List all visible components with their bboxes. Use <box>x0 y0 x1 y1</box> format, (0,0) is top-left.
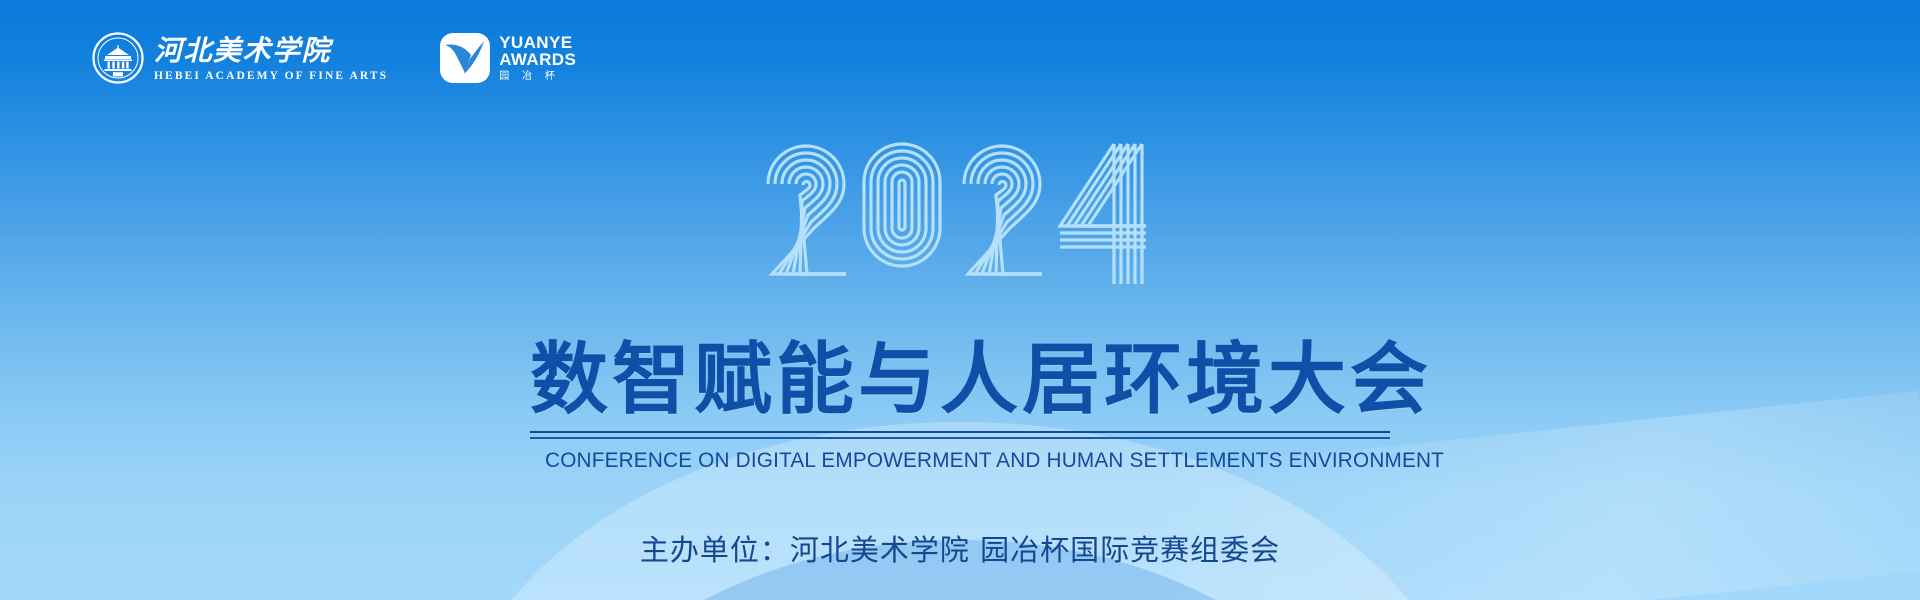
yuanye-wordmark: YUANYE AWARDS 园 冶 杯 <box>499 34 576 82</box>
conference-banner: 河北美术学院 HEBEI ACADEMY OF FINE ARTS YUANYE… <box>0 0 1920 600</box>
hebei-name-cn: 河北美术学院 <box>154 33 388 67</box>
year-2024-graphic <box>760 138 1160 290</box>
yuanye-line2: AWARDS <box>499 51 576 68</box>
hebei-name-block: 河北美术学院 HEBEI ACADEMY OF FINE ARTS <box>154 33 388 83</box>
page-title: 数智赋能与人居环境大会 <box>530 338 1390 422</box>
organizer-line: 主办单位：河北美术学院 园冶杯国际竞赛组委会 <box>640 527 1280 569</box>
logo-row: 河北美术学院 HEBEI ACADEMY OF FINE ARTS YUANYE… <box>92 32 576 84</box>
page-subtitle-en: CONFERENCE ON DIGITAL EMPOWERMENT AND HU… <box>545 448 1375 473</box>
yuanye-line3-cn: 园 冶 杯 <box>499 72 576 82</box>
yuanye-line1: YUANYE <box>499 34 576 51</box>
title-divider-line-2 <box>530 437 1390 439</box>
yuanye-swoosh-icon <box>440 33 490 83</box>
hebei-name-en: HEBEI ACADEMY OF FINE ARTS <box>154 71 388 83</box>
svg-text:河北美术学院: 河北美术学院 <box>154 34 335 67</box>
hebei-academy-logo[interactable]: 河北美术学院 HEBEI ACADEMY OF FINE ARTS <box>92 32 388 84</box>
university-seal-icon <box>92 32 144 84</box>
yuanye-awards-logo[interactable]: YUANYE AWARDS 园 冶 杯 <box>440 33 576 83</box>
title-divider-line-1 <box>530 431 1390 433</box>
headline-block: 数智赋能与人居环境大会 CONFERENCE ON DIGITAL EMPOWE… <box>530 338 1390 473</box>
title-divider <box>530 431 1390 439</box>
